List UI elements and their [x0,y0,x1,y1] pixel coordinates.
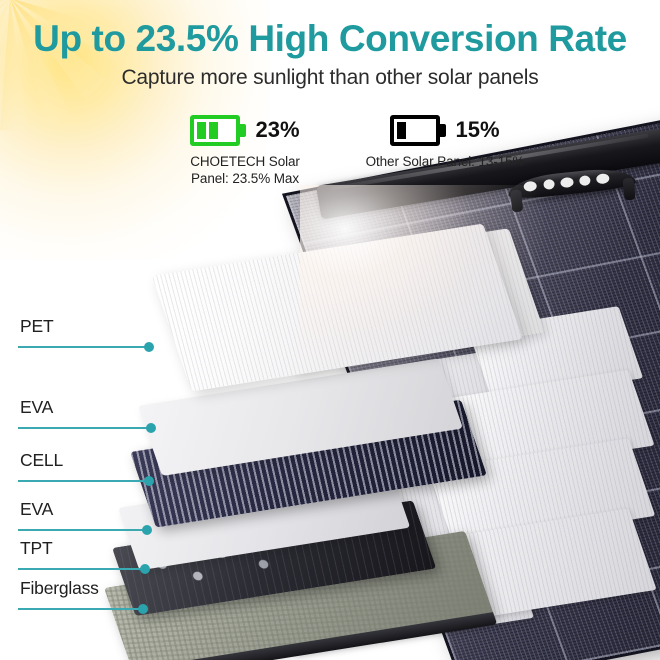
page-subtitle: Capture more sunlight than other solar p… [0,66,660,90]
callout-eva-lower: EVA [18,501,53,535]
fiberglass-edge [132,612,497,660]
callout-pet: PET [18,318,53,352]
callout-leader-line [18,604,99,614]
solar-panel-photo [0,0,660,660]
callout-label: EVA [18,399,53,417]
callout-eva-upper: EVA [18,399,53,433]
callout-leader-line [18,476,63,486]
battery-green-icon [190,115,246,146]
callout-leader-line [18,525,53,535]
other-percent: 15% [455,117,499,143]
comparison-other: 15% Other Solar Panel: 13-15% [330,110,560,170]
comparison-choetech: 23% CHOETECH Solar Panel: 23.5% Max [150,110,340,188]
choetech-percent: 23% [255,117,299,143]
callout-leader-line [18,564,52,574]
infographic-canvas: Up to 23.5% High Conversion Rate Capture… [0,0,660,660]
choetech-caption-line1: CHOETECH Solar [150,153,340,170]
page-title: Up to 23.5% High Conversion Rate [0,18,660,60]
callout-leader-line [18,423,53,433]
callout-label: Fiberglass [18,580,99,598]
callout-label: CELL [18,452,63,470]
choetech-caption-line2: Panel: 23.5% Max [150,170,340,187]
callout-label: TPT [18,540,52,558]
callout-label: EVA [18,501,53,519]
callout-cell: CELL [18,452,63,486]
efficiency-comparison: 23% CHOETECH Solar Panel: 23.5% Max 15% … [0,110,660,200]
other-caption: Other Solar Panel: 13-15% [330,153,560,170]
callout-fiberglass: Fiberglass [18,580,99,614]
choetech-caption: CHOETECH Solar Panel: 23.5% Max [150,153,340,188]
other-caption-line1: Other Solar Panel: 13-15% [330,153,560,170]
callout-label: PET [18,318,53,336]
callout-leader-line [18,342,53,352]
battery-black-icon [390,115,446,146]
callout-tpt: TPT [18,540,52,574]
